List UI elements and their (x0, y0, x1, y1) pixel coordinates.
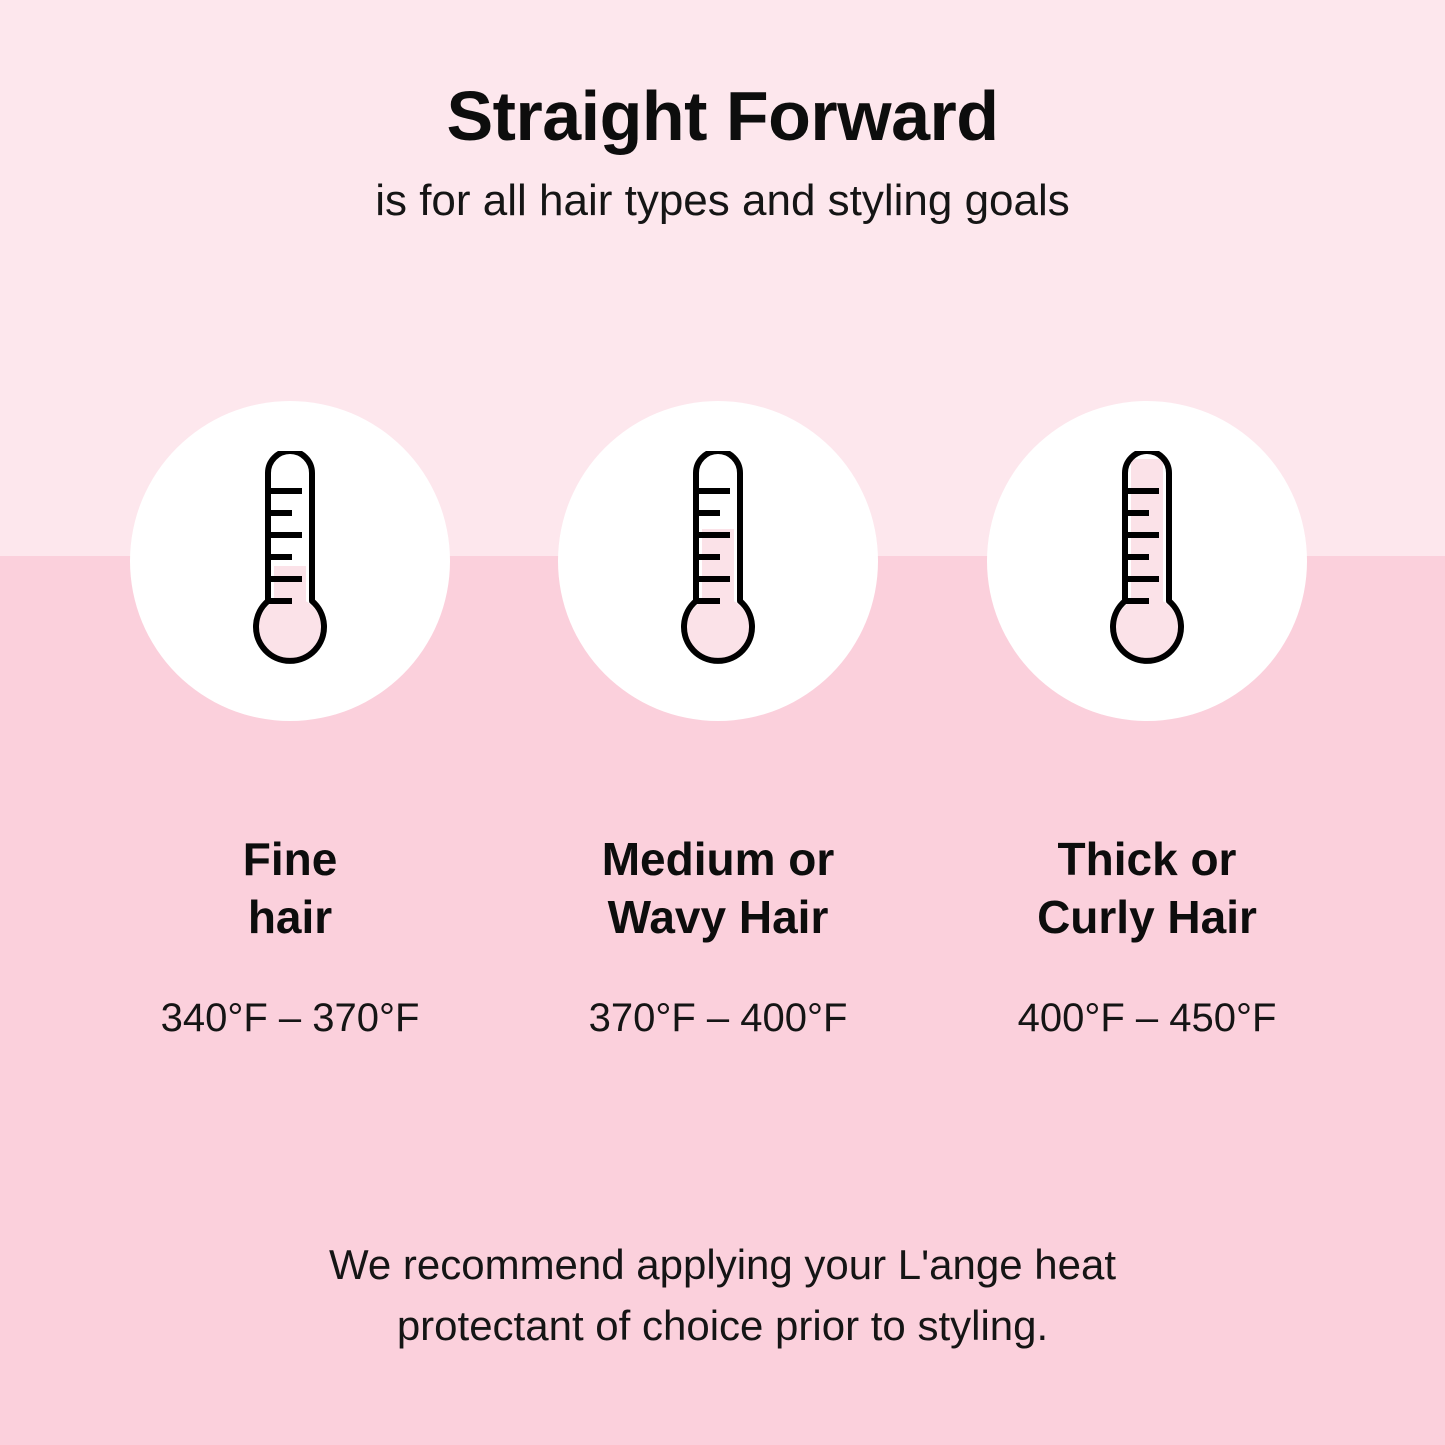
footer-line-2: protectant of choice prior to styling. (0, 1296, 1445, 1357)
hair-type-columns: Fine hair 340°F – 370°F (0, 0, 1445, 1445)
hair-type-line-2: Wavy Hair (508, 889, 928, 947)
infographic-poster: Straight Forward is for all hair types a… (0, 0, 1445, 1445)
icon-circle (987, 401, 1307, 721)
hair-type-line-2: hair (80, 889, 500, 947)
hair-type-column: Thick or Curly Hair 400°F – 450°F (937, 401, 1357, 1042)
temperature-range: 370°F – 400°F (508, 994, 928, 1042)
hair-type-column: Fine hair 340°F – 370°F (80, 401, 500, 1042)
hair-type-line-1: Medium or (508, 831, 928, 889)
icon-circle (558, 401, 878, 721)
hair-type-label: Medium or Wavy Hair (508, 831, 928, 946)
hair-type-label: Thick or Curly Hair (937, 831, 1357, 946)
thermometer-icon (230, 451, 350, 671)
hair-type-line-1: Fine (80, 831, 500, 889)
hair-type-column: Medium or Wavy Hair 370°F – 400°F (508, 401, 928, 1042)
footer-line-1: We recommend applying your L'ange heat (0, 1235, 1445, 1296)
hair-type-label: Fine hair (80, 831, 500, 946)
thermometer-icon (658, 451, 778, 671)
temperature-range: 340°F – 370°F (80, 994, 500, 1042)
hair-type-line-1: Thick or (937, 831, 1357, 889)
icon-circle (130, 401, 450, 721)
thermometer-icon (1087, 451, 1207, 671)
temperature-range: 400°F – 450°F (937, 994, 1357, 1042)
hair-type-line-2: Curly Hair (937, 889, 1357, 947)
footer-note: We recommend applying your L'ange heat p… (0, 1235, 1445, 1357)
